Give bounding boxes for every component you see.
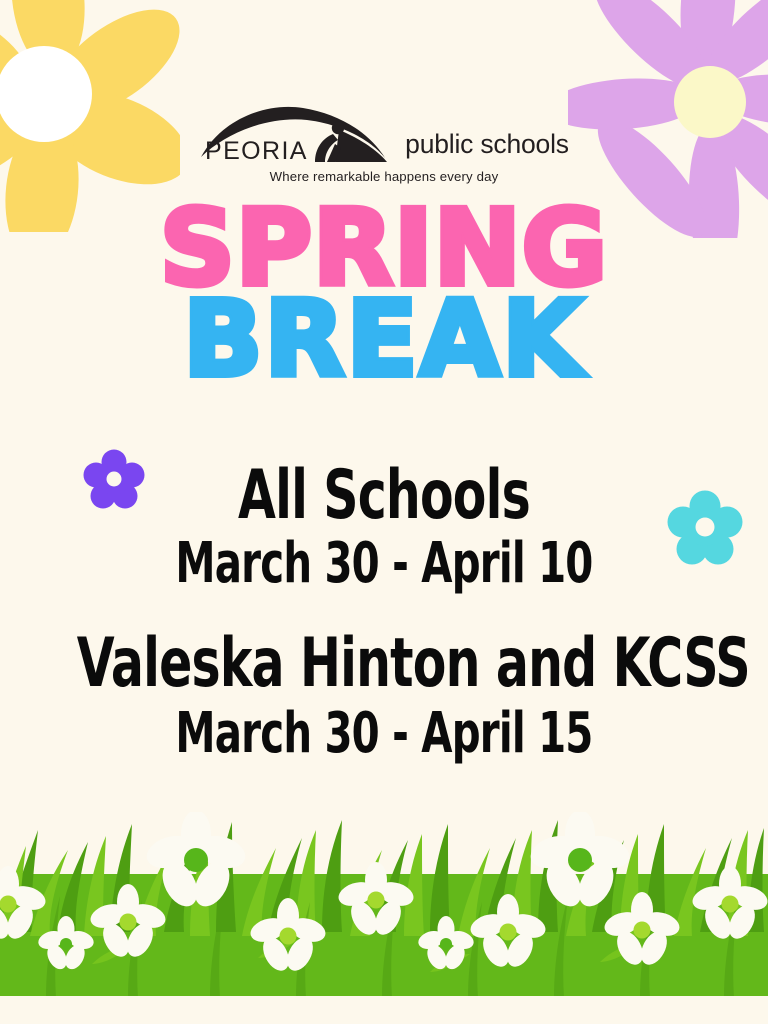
announcement-audience: All Schools [77, 462, 691, 530]
headline-line-break: BREAK [0, 297, 768, 382]
announcement-audience: Valeska Hinton and KCSS [77, 630, 691, 698]
announcement-dates: March 30 - April 10 [77, 536, 691, 592]
announcement-dates: March 30 - April 15 [77, 706, 691, 762]
announcement-list: All Schools March 30 - April 10 Valeska … [0, 462, 768, 762]
peoria-swoosh-icon: PEORIA [199, 104, 395, 166]
announcement-item: All Schools March 30 - April 10 [0, 462, 768, 592]
spring-break-poster: PEORIA public schools Where remarkable h… [0, 0, 768, 1024]
bottom-margin-strip [0, 996, 768, 1024]
logo-tagline: Where remarkable happens every day [0, 169, 768, 184]
grass-border-decoration [0, 812, 768, 998]
announcement-item: Valeska Hinton and KCSS March 30 - April… [0, 630, 768, 762]
district-logo: PEORIA public schools Where remarkable h… [0, 104, 768, 184]
logo-peoria-text: PEORIA [205, 137, 308, 165]
logo-wordmark: public schools [395, 129, 569, 166]
page-title: SPRING BREAK [0, 206, 768, 383]
